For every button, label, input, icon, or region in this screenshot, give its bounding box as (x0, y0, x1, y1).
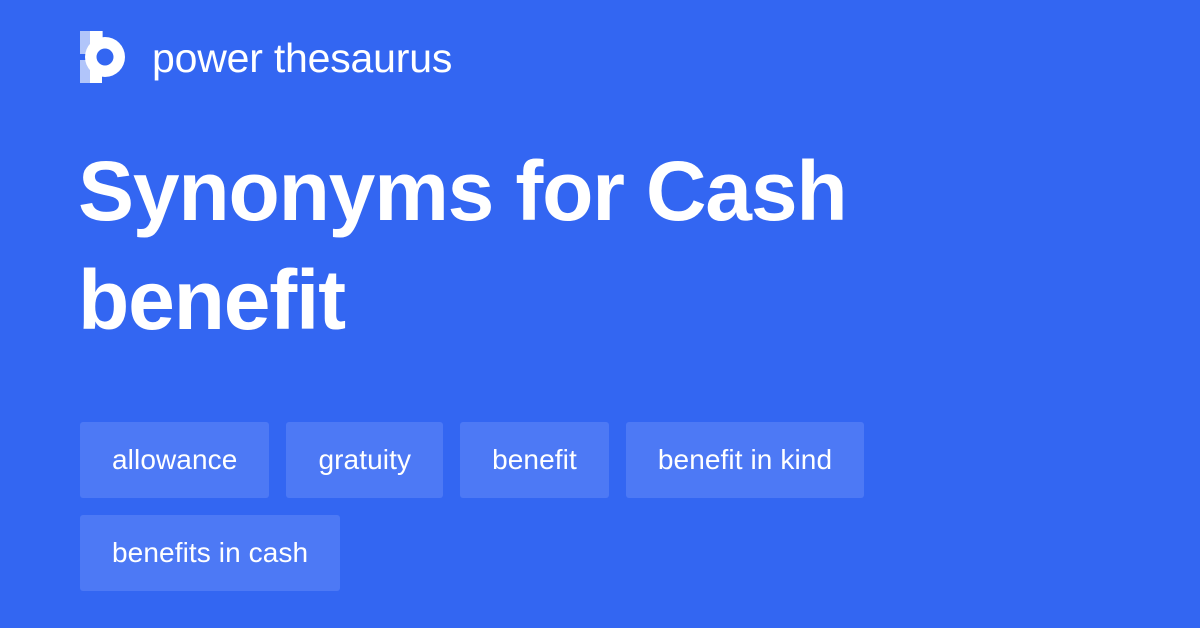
brand-logo[interactable]: power thesaurus (80, 26, 452, 88)
page-title-line-1: Synonyms for Cash (78, 137, 1078, 246)
page-title: Synonyms for Cash benefit (78, 137, 1078, 355)
page-title-line-2: benefit (78, 246, 1078, 355)
synonym-chip-list: allowance gratuity benefit benefit in ki… (80, 422, 1110, 591)
synonym-chip[interactable]: gratuity (286, 422, 443, 498)
synonym-chip[interactable]: allowance (80, 422, 269, 498)
page-root: power thesaurus Synonyms for Cash benefi… (0, 0, 1200, 628)
power-thesaurus-b-logo-icon (80, 31, 130, 83)
synonym-chip[interactable]: benefits in cash (80, 515, 340, 591)
brand-name: power thesaurus (152, 38, 452, 79)
synonym-chip[interactable]: benefit (460, 422, 609, 498)
synonym-chip[interactable]: benefit in kind (626, 422, 864, 498)
